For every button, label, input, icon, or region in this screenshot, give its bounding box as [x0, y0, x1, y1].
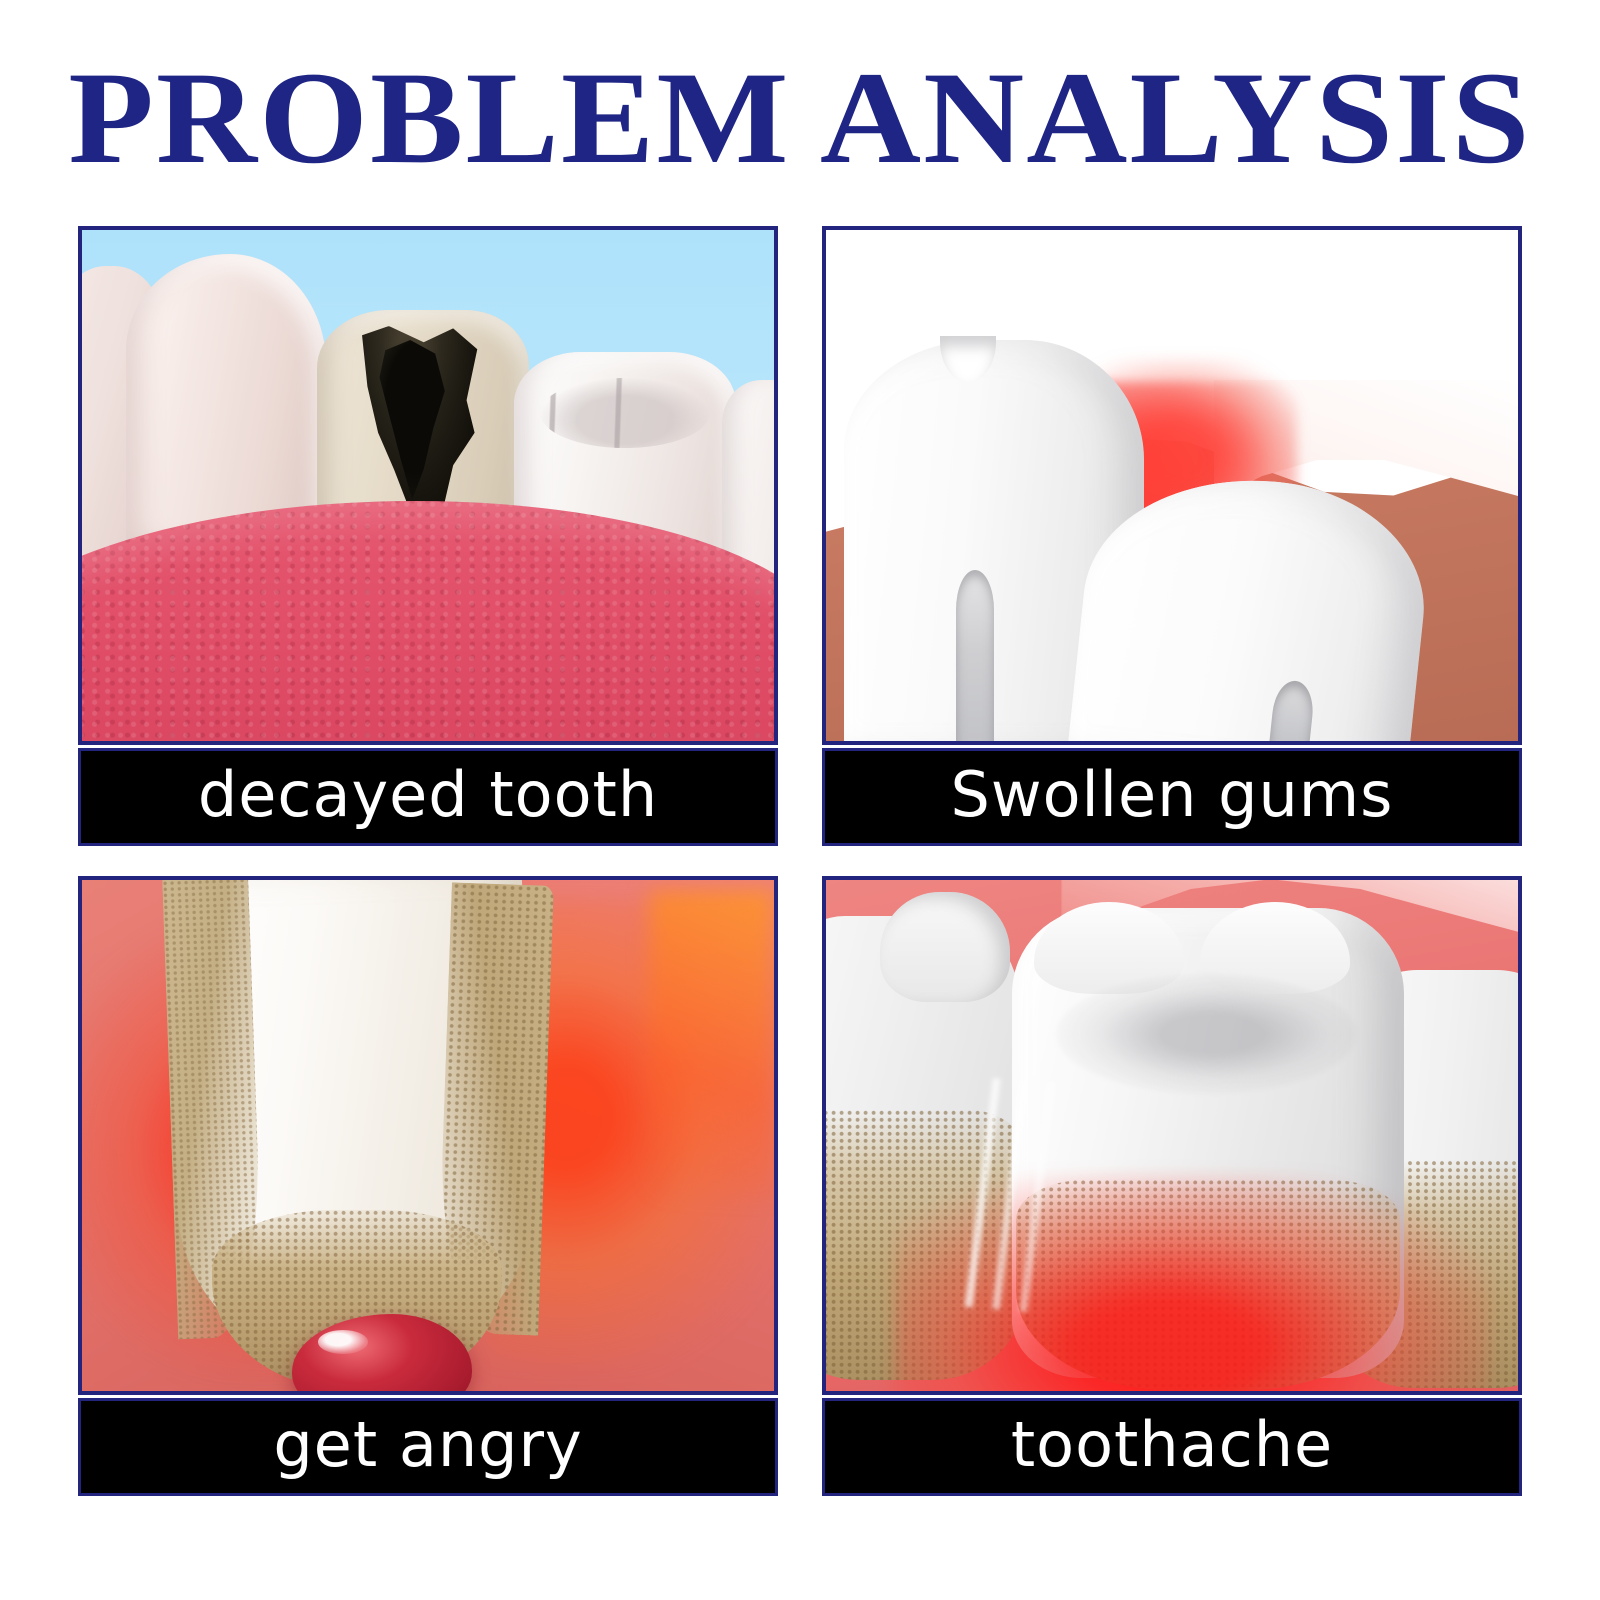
- panel-grid: decayed tooth Swollen gums: [78, 226, 1522, 1498]
- panel-image-swollen-gums: [822, 226, 1522, 745]
- tongue-tissue: [78, 501, 778, 745]
- caption-label: decayed tooth: [198, 764, 658, 826]
- caption-label: Swollen gums: [951, 764, 1394, 826]
- molar-groove: [1056, 974, 1356, 1094]
- tooth-crown-notch: [940, 336, 996, 382]
- molar-cusp: [880, 892, 1010, 1002]
- panel-card-toothache[interactable]: toothache: [822, 876, 1522, 1498]
- root-furcation: [956, 570, 994, 745]
- panel-caption-get-angry: get angry: [78, 1398, 778, 1496]
- panel-image-decayed-tooth: [78, 226, 778, 745]
- panel-caption-decayed-tooth: decayed tooth: [78, 748, 778, 846]
- panel-caption-toothache: toothache: [822, 1398, 1522, 1496]
- inflammation-orange-edge: [649, 890, 774, 1197]
- caption-label: get angry: [273, 1414, 582, 1476]
- poster-root: PROBLEM ANALYSIS decayed tooth: [0, 0, 1600, 1600]
- panel-card-swollen-gums[interactable]: Swollen gums: [822, 226, 1522, 846]
- panel-image-toothache: [822, 876, 1522, 1395]
- panel-image-get-angry: [78, 876, 778, 1395]
- page-title: PROBLEM ANALYSIS: [0, 52, 1600, 184]
- panel-card-get-angry[interactable]: get angry: [78, 876, 778, 1498]
- root-furcation: [1265, 679, 1316, 745]
- caption-label: toothache: [1011, 1414, 1333, 1476]
- molar-fissure: [540, 378, 710, 448]
- panel-caption-swollen-gums: Swollen gums: [822, 748, 1522, 846]
- panel-card-decayed-tooth[interactable]: decayed tooth: [78, 226, 778, 846]
